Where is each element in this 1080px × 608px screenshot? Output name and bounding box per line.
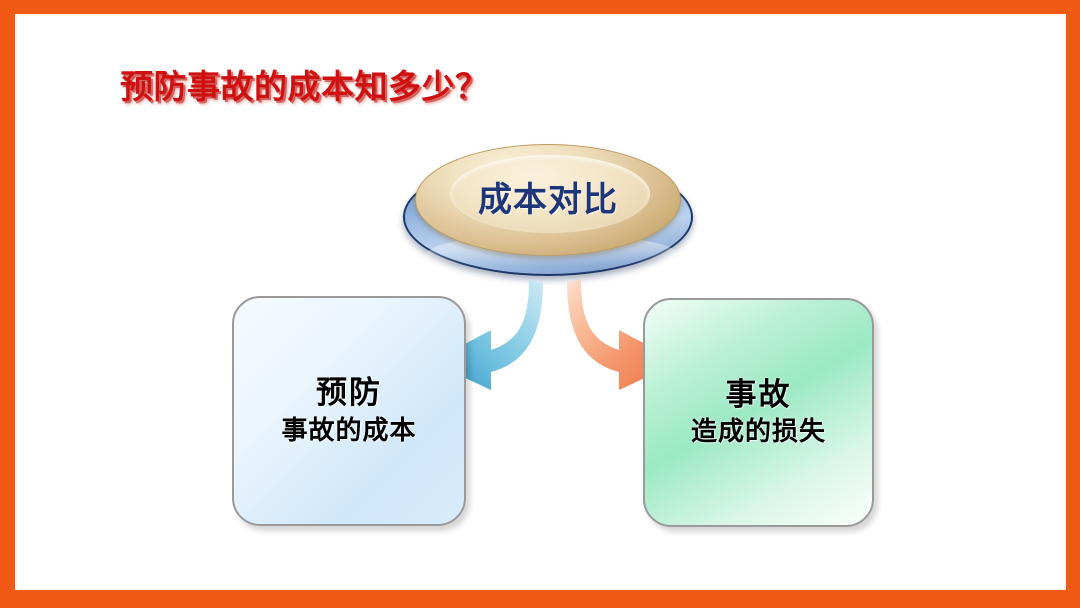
- box-accident-line1: 事故: [726, 378, 792, 413]
- slide-canvas: 预防事故的成本知多少？ 成本对比: [0, 0, 1080, 608]
- frame-border-top: [0, 0, 1080, 14]
- box-prevention-line1: 预防: [316, 376, 382, 411]
- box-prevention-cost[interactable]: 预防 事故的成本: [232, 296, 466, 526]
- center-node-label: 成本对比: [400, 142, 696, 250]
- center-node-cost-comparison[interactable]: 成本对比: [400, 142, 696, 282]
- box-accident-line2: 造成的损失: [691, 416, 826, 447]
- frame-border-right: [1066, 0, 1080, 608]
- box-prevention-line2: 事故的成本: [281, 415, 416, 446]
- box-accident-loss[interactable]: 事故 造成的损失: [643, 298, 874, 527]
- frame-border-bottom: [0, 590, 1080, 608]
- slide-title: 预防事故的成本知多少？: [120, 60, 489, 108]
- frame-border-left: [0, 0, 15, 608]
